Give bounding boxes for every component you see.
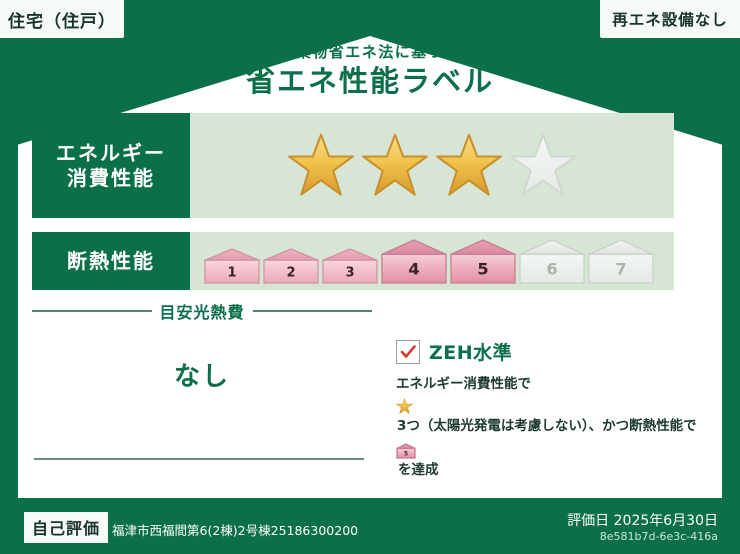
heading-subtitle: 建築物省エネ法に基づく [0,44,740,61]
rule-right [253,310,373,312]
rule-left [32,310,152,312]
heading-title: 省エネ性能ラベル [0,63,740,99]
energy-performance-label-line2: 消費性能 [67,166,155,191]
zeh-description: エネルギー消費性能で3つ（太陽光発電は考慮しない）、かつ断熱性能で5を達成 [396,373,712,486]
utility-cost-block: 目安光熱費 なし [32,300,372,393]
insulation-level-2: 2 [263,248,319,284]
energy-performance-label: エネルギー 消費性能 [32,113,190,218]
svg-text:4: 4 [408,259,419,278]
svg-text:2: 2 [286,265,295,280]
utility-cost-heading: 目安光熱費 [160,299,245,323]
self-evaluation-badge: 自己評価 [24,512,108,543]
insulation-level-7: 7 [588,239,654,284]
svg-text:5: 5 [477,259,488,278]
utility-cost-value: なし [32,356,372,393]
energy-performance-label-line1: エネルギー [56,141,166,166]
star-icon-inline [396,398,712,415]
insulation-level-6: 6 [519,239,585,284]
utility-cost-divider [34,458,364,460]
star-icon [435,132,503,200]
zeh-title-row: ZEH水準 [396,338,712,365]
badge-building-type: 住宅（住戸） [0,0,124,38]
insulation-performance-value: 1234567 [190,232,674,290]
insulation-performance-row: 断熱性能 1234567 [32,232,674,290]
svg-text:5: 5 [404,451,408,457]
insulation-level-1: 1 [204,248,260,284]
evaluation-id: 8e581b7d-6e3c-416a [600,530,718,543]
house-icon-inline: 5 [396,443,712,459]
zeh-title: ZEH水準 [429,338,512,365]
svg-text:7: 7 [615,259,626,278]
insulation-level-5: 5 [450,239,516,284]
label-footer: 自己評価 福津市西福間第6(2棟)2号棟25186300200 評価日 2025… [0,498,740,554]
insulation-level-scale: 1234567 [204,239,654,284]
star-icon [361,132,429,200]
svg-text:3: 3 [345,265,354,280]
zeh-desc-part2: は考慮しない）、かつ断熱性能で [501,418,697,434]
utility-cost-heading-row: 目安光熱費 [32,300,372,322]
zeh-desc-part3: を達成 [398,462,439,478]
check-icon[interactable] [396,340,420,364]
svg-text:1: 1 [227,265,236,280]
energy-performance-label: 住宅（住戸） 再エネ設備なし 建築物省エネ法に基づく 省エネ性能ラベル エネルギ… [0,0,740,554]
badge-renewable-energy: 再エネ設備なし [600,0,740,38]
star-rating [287,132,577,200]
svg-text:6: 6 [546,259,557,278]
star-icon [287,132,355,200]
insulation-level-3: 3 [322,248,378,284]
zeh-desc-star-count: 3つ（太陽光発電 [397,418,501,434]
zeh-desc-part1: エネルギー消費性能で [396,376,531,392]
insulation-level-4: 4 [381,239,447,284]
property-address: 福津市西福間第6(2棟)2号棟25186300200 [112,520,358,539]
zeh-block: ZEH水準 エネルギー消費性能で3つ（太陽光発電は考慮しない）、かつ断熱性能で5… [396,338,712,486]
star-icon [509,132,577,200]
insulation-performance-label: 断熱性能 [32,232,190,290]
energy-performance-row: エネルギー 消費性能 [32,113,674,218]
label-heading: 建築物省エネ法に基づく 省エネ性能ラベル [0,44,740,99]
evaluation-date: 評価日 2025年6月30日 [567,510,718,530]
energy-performance-value [190,113,674,218]
insulation-performance-label-text: 断熱性能 [67,249,155,274]
